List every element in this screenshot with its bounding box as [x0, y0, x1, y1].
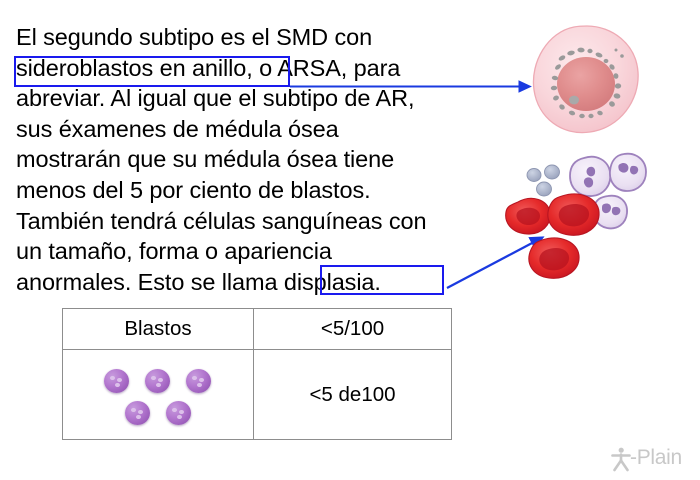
body-paragraph: El segundo subtipo es el SMD con siderob… — [16, 22, 496, 297]
table-cell-blastos-value: <5/100 — [254, 309, 452, 350]
blast-cell-cluster — [98, 361, 218, 429]
platelets — [527, 165, 560, 196]
blast-cell — [145, 369, 170, 393]
paragraph-line: mostrarán que su médula ósea tiene — [16, 144, 496, 175]
blast-cell — [104, 369, 129, 393]
paragraph-line: abreviar. Al igual que el subtipo de AR, — [16, 83, 496, 114]
ringed-sideroblast-illustration — [528, 22, 646, 140]
table-cell-blastos-label: Blastos — [63, 309, 254, 350]
table-cell-blast-value: <5 de100 — [254, 350, 452, 440]
paragraph-line: anormales. Esto se llama displasia. — [16, 267, 496, 298]
dysplastic-blood-cells-illustration — [500, 150, 660, 280]
xplain-logo-text: -Plain — [630, 446, 682, 470]
table-row: Blastos <5/100 — [63, 309, 452, 350]
red-blood-cells — [506, 194, 599, 278]
sideroblast-nucleus — [557, 57, 615, 111]
paragraph-line: un tamaño, forma o apariencia — [16, 236, 496, 267]
table-row: <5 de100 — [63, 350, 452, 440]
paragraph-line: El segundo subtipo es el SMD con — [16, 22, 496, 53]
blast-cell — [186, 369, 211, 393]
blast-cell — [125, 401, 150, 425]
paragraph-line: También tendrá células sanguíneas con — [16, 206, 496, 237]
paragraph-line: menos del 5 por ciento de blastos. — [16, 175, 496, 206]
paragraph-line: sus éxamenes de médula ósea — [16, 114, 496, 145]
blast-cell — [166, 401, 191, 425]
xplain-logo: -Plain — [608, 446, 692, 472]
table-cell-blast-illustration — [63, 350, 254, 440]
slide-canvas: El segundo subtipo es el SMD con siderob… — [0, 0, 700, 480]
paragraph-line: sideroblastos en anillo, o ARSA, para — [16, 53, 496, 84]
blastos-table: Blastos <5/100 <5 de100 — [62, 308, 452, 440]
